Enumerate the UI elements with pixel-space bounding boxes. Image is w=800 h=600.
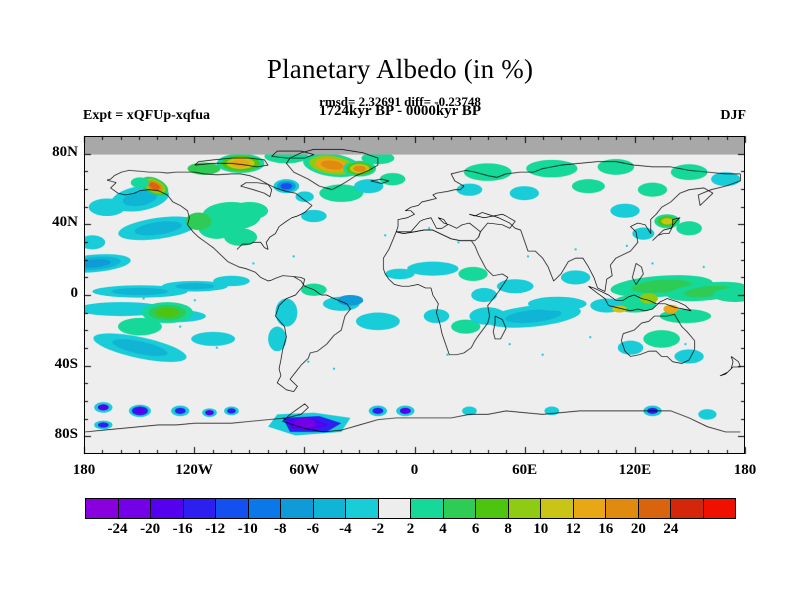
colorbar-swatch — [606, 499, 639, 518]
x-tick-label: 60W — [289, 462, 319, 479]
colorbar-swatch — [639, 499, 672, 518]
colorbar-tick: -20 — [140, 521, 160, 538]
y-tick-label: 80N — [52, 144, 78, 161]
colorbar-tick: -4 — [339, 521, 352, 538]
colorbar-tick: 16 — [598, 521, 613, 538]
y-tick-label: 0 — [71, 285, 79, 302]
y-tick-label: 80S — [55, 426, 78, 443]
x-tick-label: 120E — [619, 462, 652, 479]
colorbar-swatch — [411, 499, 444, 518]
colorbar-tick: -12 — [205, 521, 225, 538]
page-title: Planetary Albedo (in %) — [0, 54, 800, 85]
colorbar-swatch — [671, 499, 704, 518]
climate-anomaly-figure: Planetary Albedo (in %) rmsd= 2.32691 di… — [0, 0, 800, 600]
y-tick-label: 40N — [52, 214, 78, 231]
colorbar-swatch — [281, 499, 314, 518]
colorbar-swatch — [151, 499, 184, 518]
colorbar-tick: -2 — [372, 521, 385, 538]
colorbar-swatch — [119, 499, 152, 518]
colorbar-swatch — [86, 499, 119, 518]
colorbar-tick: -6 — [307, 521, 320, 538]
colorbar-tick: 8 — [504, 521, 512, 538]
x-tick-label: 60E — [512, 462, 537, 479]
colorbar-tick: -16 — [173, 521, 193, 538]
colorbar-tick: 4 — [439, 521, 447, 538]
colorbar-tick: 2 — [407, 521, 415, 538]
colorbar-swatch — [476, 499, 509, 518]
colorbar-swatch — [541, 499, 574, 518]
colorbar-tick: 10 — [533, 521, 548, 538]
colorbar-swatch — [704, 499, 736, 518]
albedo-anomaly-map — [85, 137, 744, 453]
colorbar — [85, 498, 736, 519]
colorbar-tick: 20 — [631, 521, 646, 538]
colorbar-tick: -8 — [274, 521, 287, 538]
season-label: DJF — [720, 108, 746, 124]
colorbar-tick: -24 — [108, 521, 128, 538]
y-tick-label: 40S — [55, 356, 78, 373]
colorbar-swatch — [216, 499, 249, 518]
colorbar-swatch — [346, 499, 379, 518]
map-plot-area — [84, 136, 745, 454]
colorbar-swatch — [184, 499, 217, 518]
colorbar-swatch — [314, 499, 347, 518]
experiment-label: Expt = xQFUp-xqfua — [83, 108, 210, 124]
x-tick-label: 180 — [734, 462, 757, 479]
colorbar-tick: -10 — [238, 521, 258, 538]
colorbar-swatch — [509, 499, 542, 518]
colorbar-swatches — [85, 498, 736, 519]
colorbar-swatch — [379, 499, 412, 518]
x-tick-label: 180 — [73, 462, 96, 479]
x-tick-label: 120W — [175, 462, 213, 479]
colorbar-swatch — [249, 499, 282, 518]
colorbar-swatch — [574, 499, 607, 518]
colorbar-swatch — [444, 499, 477, 518]
colorbar-tick: 12 — [566, 521, 581, 538]
colorbar-tick: 24 — [663, 521, 678, 538]
x-tick-label: 0 — [411, 462, 419, 479]
colorbar-tick: 6 — [472, 521, 480, 538]
